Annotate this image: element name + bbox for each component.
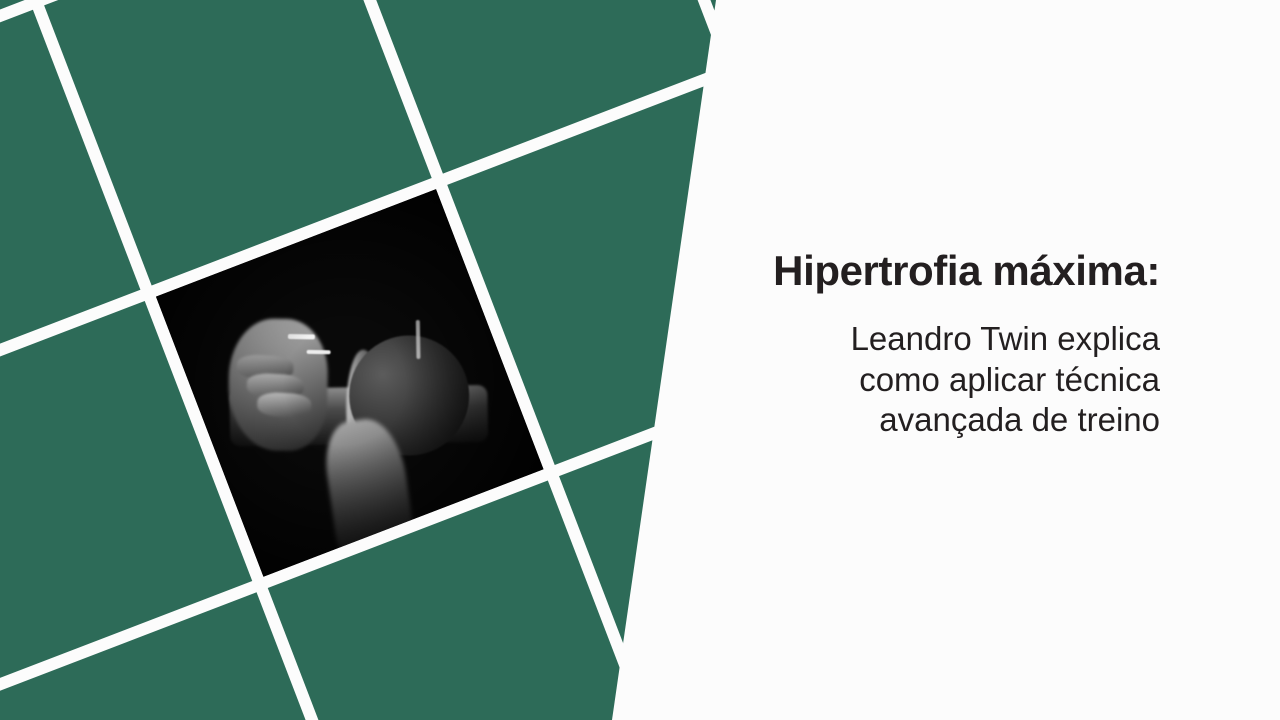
page-subtitle: Leandro Twin explica como aplicar técnic…	[600, 319, 1160, 440]
mosaic-tile	[962, 548, 1280, 720]
text-block: Hipertrofia máxima: Leandro Twin explica…	[600, 248, 1160, 440]
slide-canvas: Hipertrofia máxima: Leandro Twin explica…	[0, 0, 1280, 720]
subtitle-line: Leandro Twin explica	[600, 319, 1160, 359]
mosaic-tile	[671, 660, 1059, 720]
subtitle-line: como aplicar técnica	[600, 360, 1160, 400]
subtitle-line: avançada de treino	[600, 400, 1160, 440]
page-title: Hipertrofia máxima:	[600, 248, 1160, 293]
